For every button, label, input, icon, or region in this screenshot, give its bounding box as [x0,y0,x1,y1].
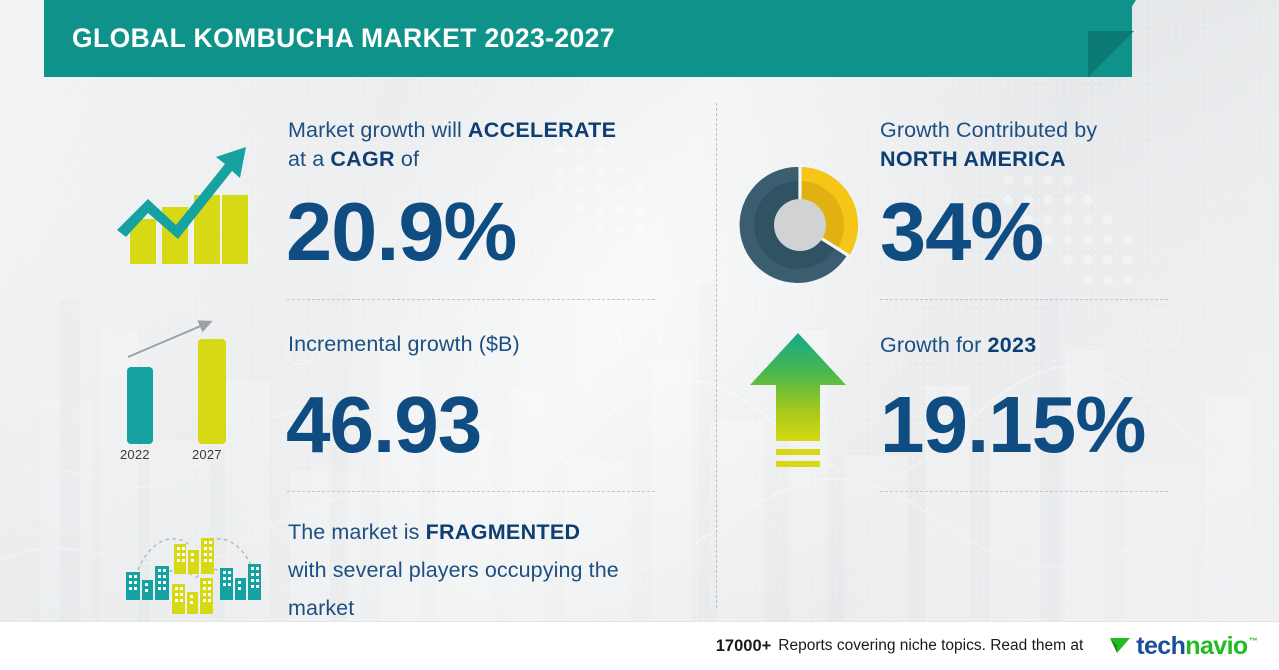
fragmentation-line1-prefix: The market is [288,520,426,544]
infographic-canvas: GLOBAL KOMBUCHA MARKET 2023-2027 Market … [0,0,1279,670]
divider-left-upper [287,299,655,300]
cagr-line2-suffix: of [395,147,419,171]
yearly-label-prefix: Growth for [880,333,987,357]
cagr-headline-line2: at a CAGR of [288,145,616,174]
vertical-divider [716,103,717,608]
region-line2-bold: NORTH AMERICA [880,147,1066,171]
yearly-label-bold: 2023 [987,333,1036,357]
region-line1: Growth Contributed by [880,116,1097,145]
technavio-logo-text: technavio™ [1136,632,1257,661]
yearly-growth-value: 19.15% [880,385,1145,465]
yearly-growth-label: Growth for 2023 [880,331,1036,360]
divider-right-lower [880,491,1168,492]
region-headline: Growth Contributed by NORTH AMERICA [880,116,1097,174]
growth-arrow-bars-icon [112,133,262,268]
cagr-line2-prefix: at a [288,147,330,171]
divider-left-lower [287,491,655,492]
connected-cities-icon [112,522,272,622]
logo-tech-part: tech [1136,632,1185,660]
cagr-headline-line1: Market growth will ACCELERATE [288,116,616,145]
page-title: GLOBAL KOMBUCHA MARKET 2023-2027 [72,0,615,77]
logo-navio-part: navio [1185,632,1247,660]
technavio-logo[interactable]: technavio™ [1109,632,1257,661]
two-bar-chart-icon: 2022 2027 [110,305,270,465]
cagr-line1-prefix: Market growth will [288,118,468,142]
cagr-line2-bold: CAGR [330,147,395,171]
fragmentation-line1: The market is FRAGMENTED [288,518,619,547]
up-arrow-icon [742,325,854,475]
reports-count: 17000+ [716,637,772,656]
footer-bar: 17000+ Reports covering niche topics. Re… [0,622,1279,670]
incremental-growth-value: 46.93 [286,385,481,465]
header-fold-shadow [1088,31,1134,77]
cagr-value: 20.9% [286,190,516,273]
incremental-growth-label: Incremental growth ($B) [288,330,520,359]
fragmentation-line2: with several players occupying the [288,556,619,585]
logo-trademark: ™ [1249,636,1257,646]
fragmentation-line3: market [288,594,619,623]
cagr-line1-bold: ACCELERATE [468,118,616,142]
bar-label-2022: 2022 [120,447,150,462]
footer-tagline: Reports covering niche topics. Read them… [778,637,1083,655]
region-line2: NORTH AMERICA [880,145,1097,174]
footer-content: 17000+ Reports covering niche topics. Re… [716,632,1279,661]
fragmentation-line1-bold: FRAGMENTED [426,520,581,544]
divider-right-upper [880,299,1168,300]
donut-chart-icon [735,160,865,290]
cagr-headline: Market growth will ACCELERATE at a CAGR … [288,116,616,174]
header-banner: GLOBAL KOMBUCHA MARKET 2023-2027 [44,0,1132,77]
technavio-arrow-icon [1109,633,1133,659]
bar-label-2027: 2027 [192,447,222,462]
region-value: 34% [880,190,1043,273]
fragmentation-text: The market is FRAGMENTED with several pl… [288,518,619,623]
